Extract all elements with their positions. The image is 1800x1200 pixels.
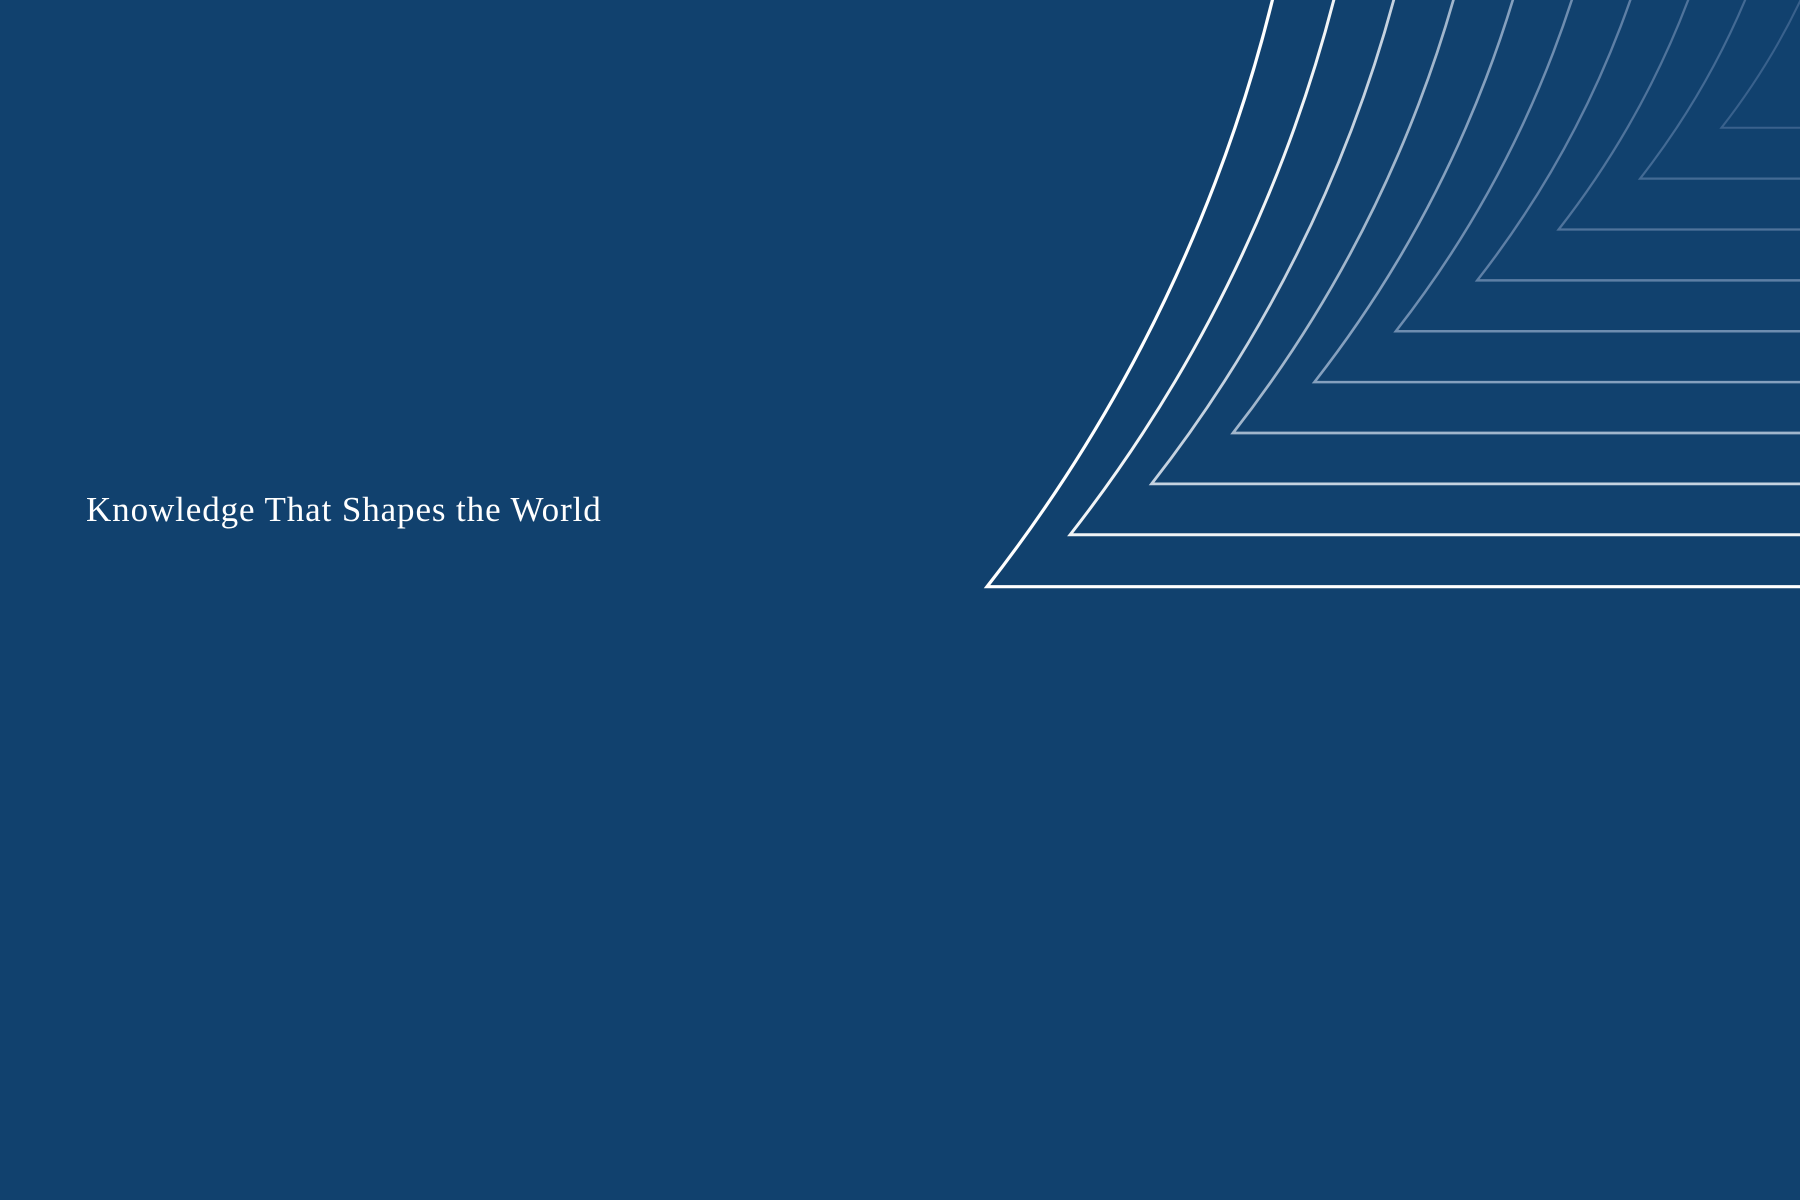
arc-ring-1 bbox=[987, 0, 1800, 587]
poster-canvas: Knowledge That Shapes the World bbox=[0, 0, 1800, 1200]
arc-ring-5 bbox=[1314, 0, 1800, 382]
arc-ring-9 bbox=[1640, 0, 1800, 179]
page-title: Knowledge That Shapes the World bbox=[86, 489, 602, 531]
arc-ring-7 bbox=[1477, 0, 1800, 280]
concentric-arc-rings bbox=[0, 0, 1800, 1200]
arc-ring-8 bbox=[1559, 0, 1800, 230]
ring-group bbox=[987, 0, 1800, 587]
arc-ring-10 bbox=[1721, 0, 1800, 128]
